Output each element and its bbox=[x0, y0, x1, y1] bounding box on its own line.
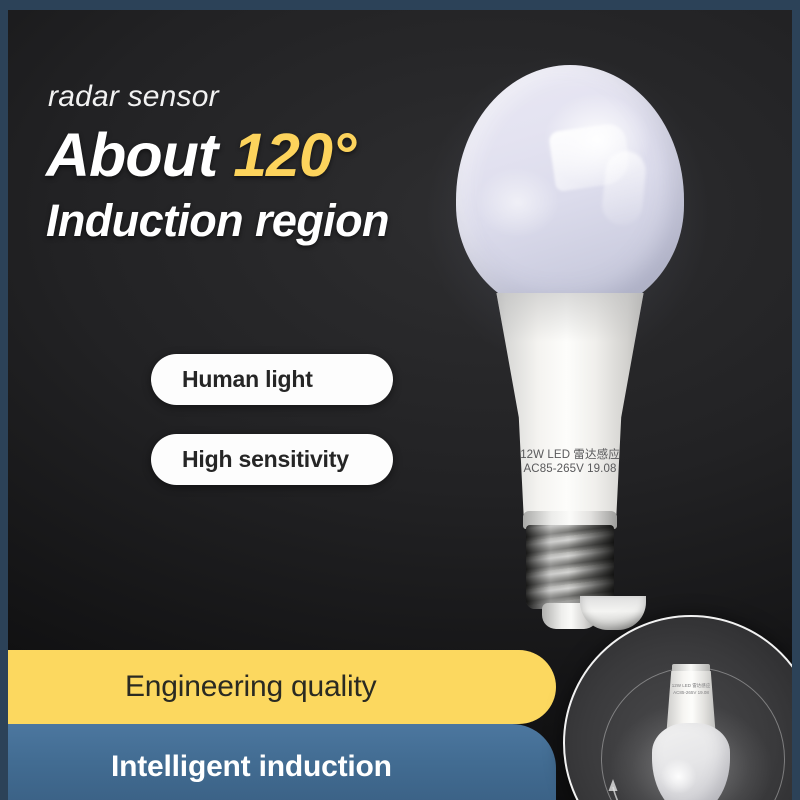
poster-canvas: radar sensor About 120° Induction region… bbox=[8, 10, 792, 800]
headline-main: About 120° bbox=[46, 126, 466, 186]
headline-block: radar sensor About 120° Induction region bbox=[46, 82, 466, 243]
bulb-housing-shadow bbox=[490, 293, 650, 515]
feature-pill-label: Human light bbox=[182, 366, 313, 393]
banner-intelligent-induction: Intelligent induction bbox=[8, 724, 556, 800]
bulb-print-label: 12W LED 雷达感应 AC85-265V 19.08 bbox=[490, 448, 650, 477]
kicker-text: radar sensor bbox=[48, 82, 466, 112]
led-bulb-image: 12W LED 雷达感应 AC85-265V 19.08 bbox=[438, 65, 698, 625]
feature-pill-high-sensitivity: High sensitivity bbox=[151, 434, 393, 485]
banner-label: Engineering quality bbox=[125, 670, 376, 704]
bulb-print-line-2: AC85-265V 19.08 bbox=[490, 462, 650, 476]
rotation-arrow-icon bbox=[565, 617, 792, 800]
feature-pill-label: High sensitivity bbox=[182, 446, 349, 473]
bulb-dome bbox=[456, 65, 684, 315]
headline-prefix: About bbox=[46, 121, 217, 189]
bulb-print-line-1: 12W LED 雷达感应 bbox=[490, 448, 650, 462]
headline-angle-value: 120° bbox=[233, 121, 355, 189]
headline-subtitle: Induction region bbox=[46, 198, 466, 243]
circular-inset-photo: 12W LED 雷达感应 AC85-265V 19.08 bbox=[563, 615, 792, 800]
banner-label: Intelligent induction bbox=[111, 750, 392, 784]
banner-engineering-quality: Engineering quality bbox=[8, 650, 556, 724]
bulb-highlight-secondary bbox=[600, 149, 648, 227]
feature-pill-human-light: Human light bbox=[151, 354, 393, 405]
product-poster: radar sensor About 120° Induction region… bbox=[0, 0, 800, 800]
